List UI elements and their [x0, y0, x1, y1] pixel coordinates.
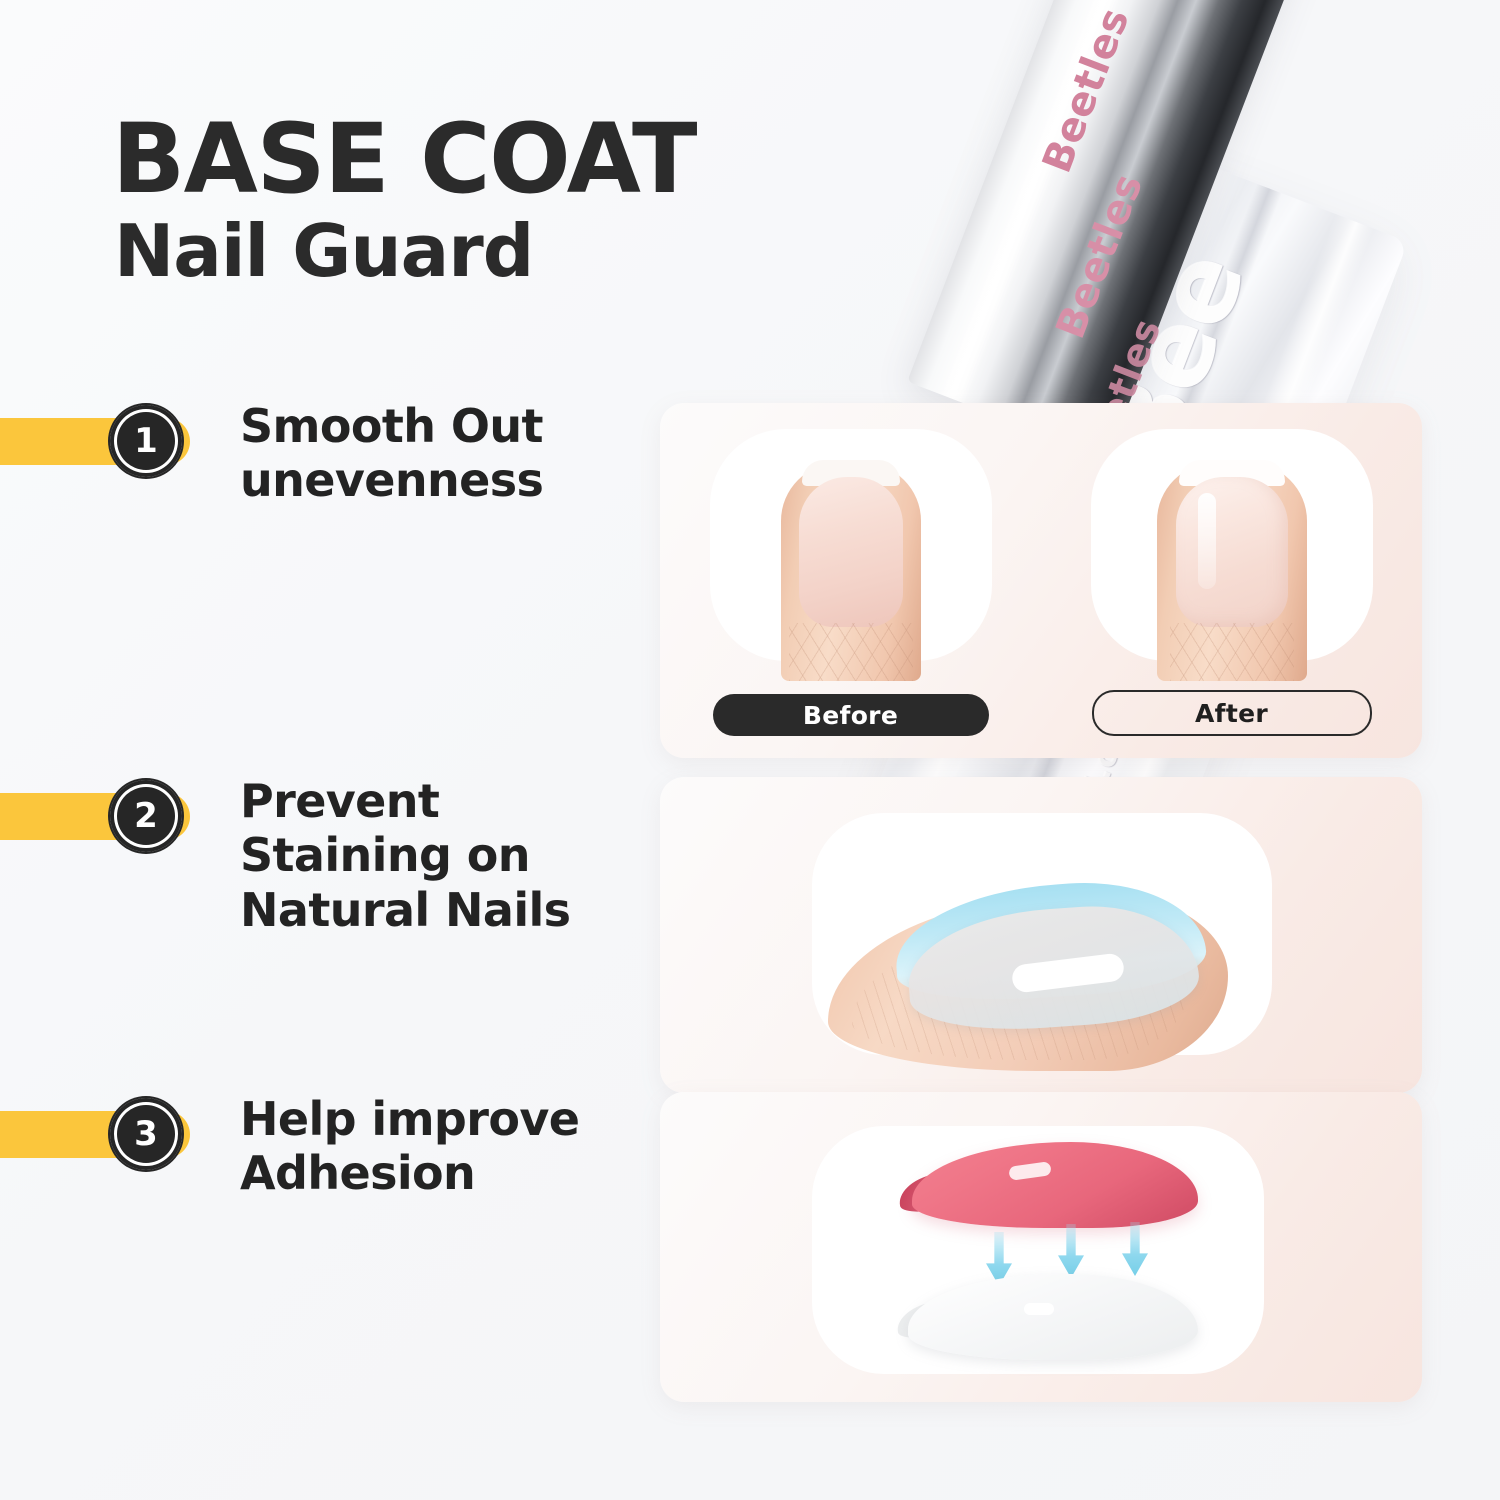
nail-before [799, 477, 903, 627]
panel-before-after: Before After [660, 403, 1422, 758]
feature-text-1-line-2: unevenness [240, 453, 630, 507]
feature-number-1: 1 [134, 424, 158, 458]
finger-before [781, 463, 921, 681]
feature-text-3: Help improve Adhesion [240, 1092, 630, 1201]
feature-text-2-line-3: Natural Nails [240, 883, 630, 937]
before-column: Before [660, 403, 1041, 758]
feature-text-1-line-1: Smooth Out [240, 399, 630, 453]
skin-texture-before [789, 623, 913, 681]
panel-adhesion [660, 1092, 1422, 1402]
feature-text-2-line-2: Staining on [240, 828, 630, 882]
before-label: Before [713, 694, 989, 736]
skin-texture-after [1170, 623, 1294, 681]
before-photo [710, 429, 992, 661]
finger-after [1157, 463, 1307, 681]
before-after-wrap: Before After [660, 403, 1422, 758]
feature-text-2: Prevent Staining on Natural Nails [240, 774, 630, 937]
after-column: After [1041, 403, 1422, 758]
feature-list: 1 Smooth Out unevenness 2 Prevent Staini… [0, 0, 640, 1500]
after-label: After [1092, 690, 1372, 736]
feature-text-3-line-1: Help improve [240, 1092, 630, 1146]
cap-brand-text-2: Beetles [1048, 168, 1153, 345]
after-photo [1091, 429, 1373, 661]
feature-number-badge-1: 1 [110, 405, 182, 477]
feature-number-badge-2: 2 [110, 780, 182, 852]
cap-brand-text-1: Beetles [1034, 2, 1139, 179]
bottle-cap: Beetles Beetles Beetles [907, 0, 1316, 459]
feature-number-2: 2 [134, 799, 158, 833]
feature-number-badge-3: 3 [110, 1098, 182, 1170]
feature-text-1: Smooth Out unevenness [240, 399, 630, 508]
feature-text-2-line-1: Prevent [240, 774, 630, 828]
feature-text-3-line-2: Adhesion [240, 1146, 630, 1200]
nail-gloss-highlight [1198, 493, 1216, 589]
panel-protective-coat [660, 777, 1422, 1093]
cap-highlight [939, 0, 1173, 404]
nail-after [1176, 477, 1288, 627]
infographic-canvas: Bee CO 0.5l fl.o Beetles Beetles Beetles… [0, 0, 1500, 1500]
feature-number-3: 3 [134, 1117, 158, 1151]
